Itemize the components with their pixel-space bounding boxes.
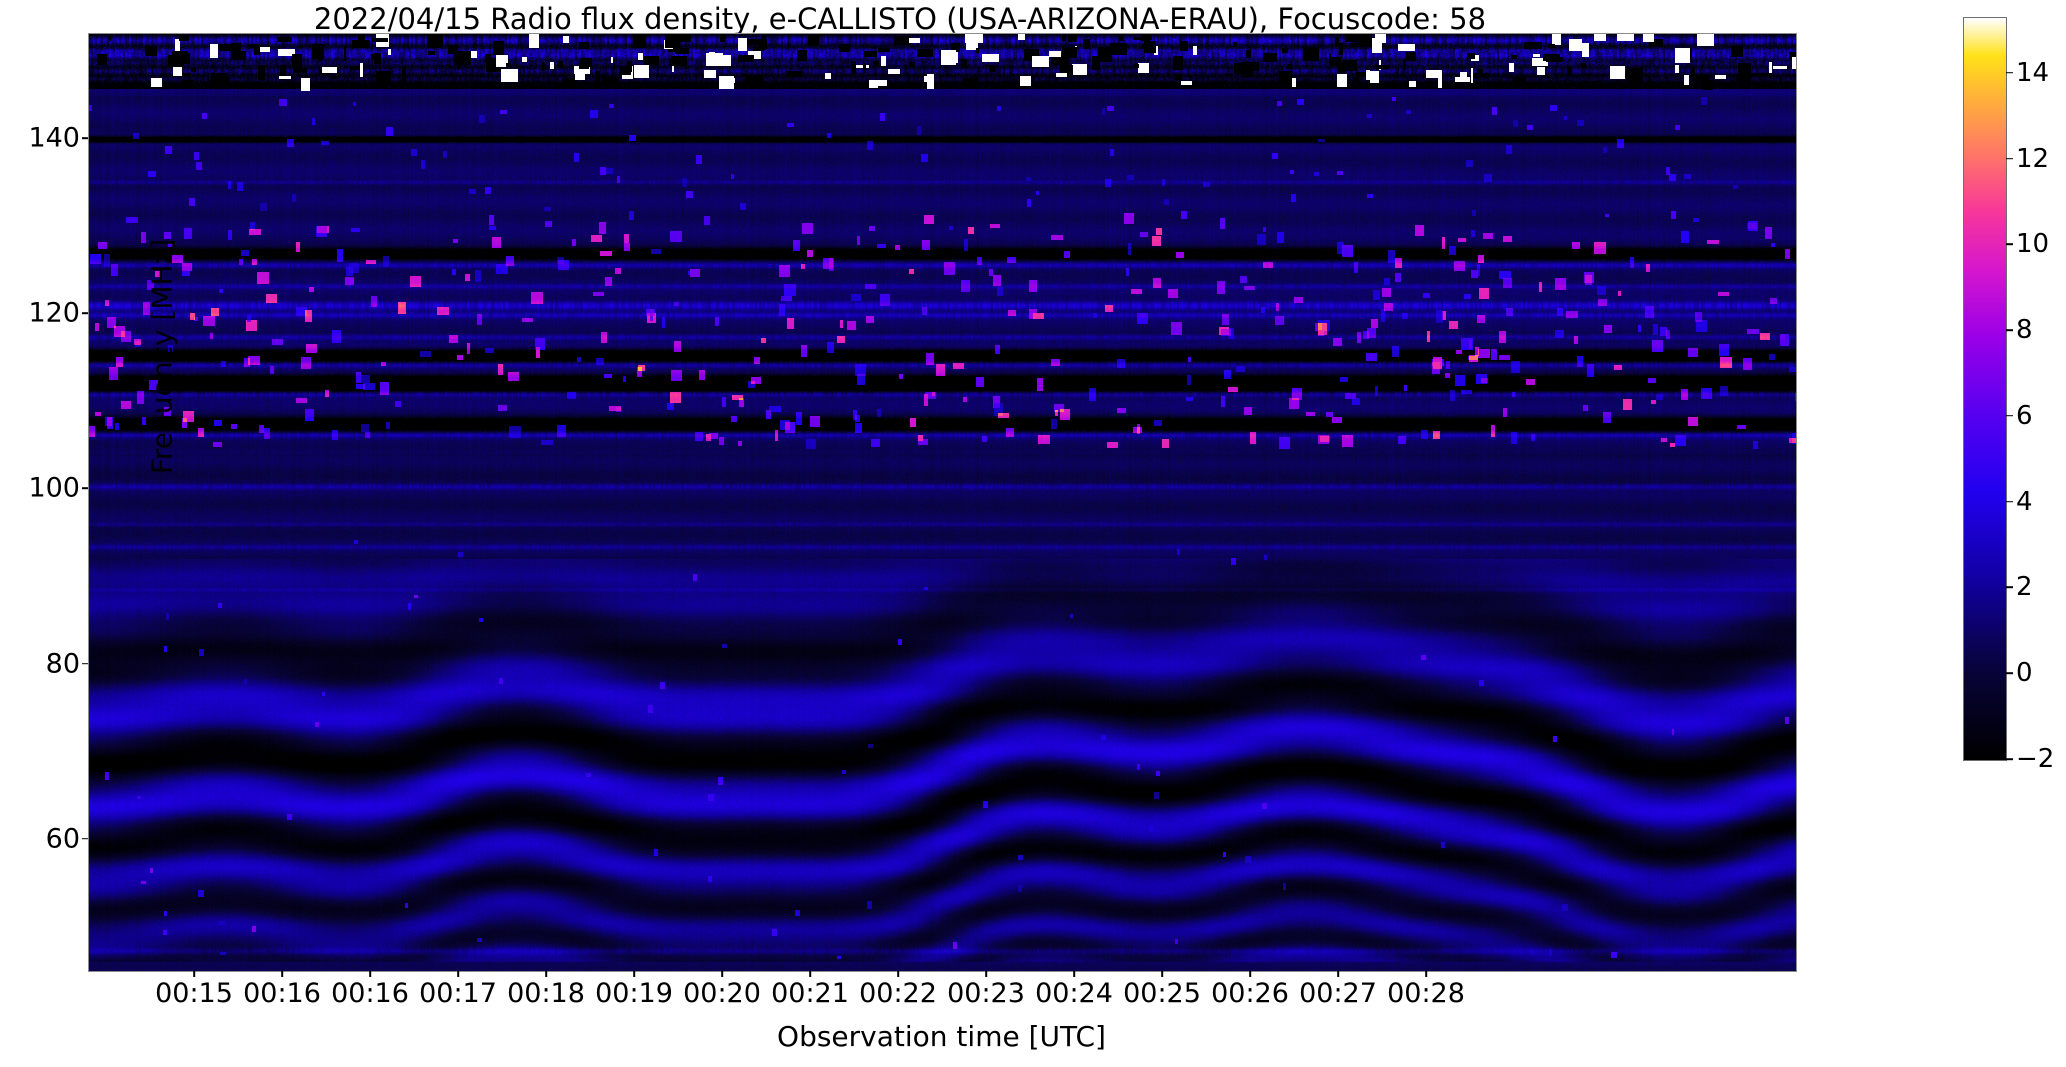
- x-tick-mark: [193, 971, 195, 977]
- colorbar-tick-mark: [2006, 415, 2013, 417]
- x-tick-mark: [281, 971, 283, 977]
- colorbar-tick-label: −2: [2016, 744, 2054, 774]
- y-tick-mark: [82, 663, 88, 665]
- x-tick-mark: [457, 971, 459, 977]
- y-tick-mark: [82, 137, 88, 139]
- y-tick-label: 120: [0, 298, 80, 329]
- page-title: 2022/04/15 Radio flux density, e-CALLIST…: [0, 2, 1800, 36]
- x-tick-mark: [369, 971, 371, 977]
- x-tick-mark: [545, 971, 547, 977]
- y-tick-label: 100: [0, 473, 80, 504]
- colorbar-tick-label: 4: [2016, 487, 2033, 517]
- x-tick-label: 00:22: [859, 978, 937, 1009]
- y-tick-mark: [82, 488, 88, 490]
- figure-root: 2022/04/15 Radio flux density, e-CALLIST…: [0, 0, 2066, 1067]
- x-tick-mark: [985, 971, 987, 977]
- x-tick-label: 00:27: [1299, 978, 1377, 1009]
- colorbar-tick-mark: [2006, 329, 2013, 331]
- colorbar-tick-label: 6: [2016, 401, 2033, 431]
- colorbar-tick-mark: [2006, 72, 2013, 74]
- colorbar-tick-mark: [2006, 672, 2013, 674]
- x-tick-mark: [1337, 971, 1339, 977]
- x-tick-label: 00:17: [419, 978, 497, 1009]
- colorbar-tick-mark: [2006, 587, 2013, 589]
- x-tick-label: 00:19: [595, 978, 673, 1009]
- y-tick-label: 60: [0, 823, 80, 854]
- x-tick-mark: [633, 971, 635, 977]
- x-tick-label: 00:16: [331, 978, 409, 1009]
- x-axis-label: Observation time [UTC]: [88, 1020, 1795, 1053]
- x-tick-label: 00:15: [155, 978, 233, 1009]
- x-tick-label: 00:20: [683, 978, 761, 1009]
- spectrogram-canvas[interactable]: [89, 34, 1796, 971]
- x-tick-mark: [1249, 971, 1251, 977]
- x-tick-label: 00:24: [1035, 978, 1113, 1009]
- x-tick-mark: [809, 971, 811, 977]
- x-tick-mark: [1161, 971, 1163, 977]
- colorbar-tick-mark: [2006, 158, 2013, 160]
- colorbar-tick-label: 14: [2016, 58, 2049, 88]
- x-tick-label: 00:18: [507, 978, 585, 1009]
- x-tick-mark: [721, 971, 723, 977]
- colorbar-tick-mark: [2006, 244, 2013, 246]
- y-tick-mark: [82, 838, 88, 840]
- x-tick-mark: [1073, 971, 1075, 977]
- colorbar-tick-label: 2: [2016, 572, 2033, 602]
- colorbar-tick-label: 10: [2016, 229, 2049, 259]
- y-tick-label: 80: [0, 648, 80, 679]
- x-tick-mark: [897, 971, 899, 977]
- y-tick-label: 140: [0, 123, 80, 154]
- y-tick-mark: [82, 312, 88, 314]
- colorbar-tick-label: 8: [2016, 315, 2033, 345]
- x-tick-label: 00:25: [1123, 978, 1201, 1009]
- x-tick-label: 00:16: [243, 978, 321, 1009]
- colorbar-tick-mark: [2006, 758, 2013, 760]
- x-tick-mark: [1425, 971, 1427, 977]
- spectrogram-plot-area[interactable]: [88, 33, 1797, 972]
- colorbar-tick-label: 12: [2016, 144, 2049, 174]
- colorbar[interactable]: [1963, 17, 2007, 761]
- x-tick-label: 00:23: [947, 978, 1025, 1009]
- colorbar-tick-mark: [2006, 501, 2013, 503]
- x-tick-label: 00:21: [771, 978, 849, 1009]
- x-tick-label: 00:28: [1387, 978, 1465, 1009]
- colorbar-canvas: [1964, 18, 2006, 760]
- y-axis-label: Frequency [MHz]: [146, 187, 179, 527]
- x-tick-label: 00:26: [1211, 978, 1289, 1009]
- colorbar-tick-label: 0: [2016, 658, 2033, 688]
